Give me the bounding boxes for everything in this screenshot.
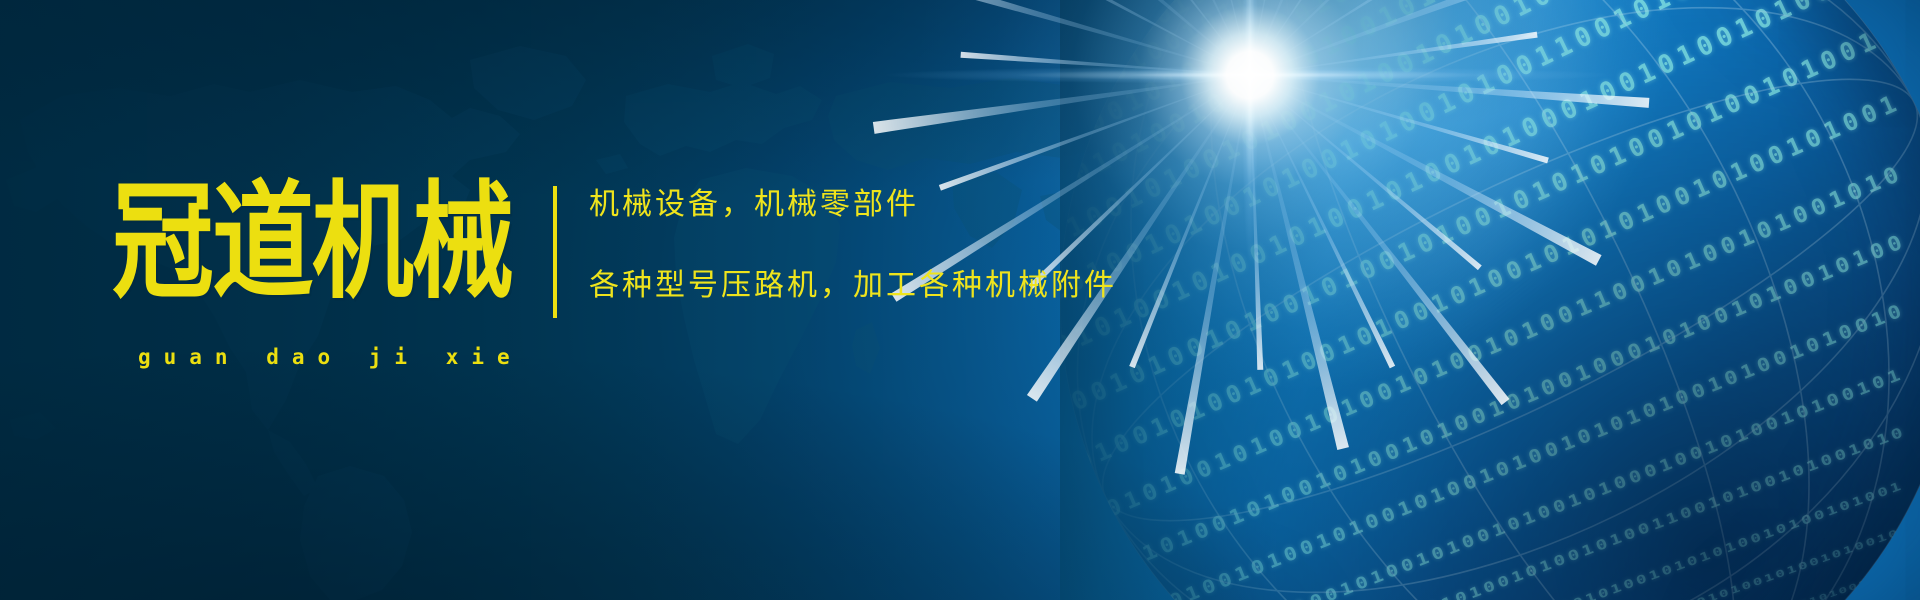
vertical-divider xyxy=(553,186,557,318)
banner-content: 冠道机械 guan dao ji xie 机械设备，机械零部件 各种型号压路机，… xyxy=(0,0,1920,600)
tagline-secondary: 各种型号压路机，加工各种机械附件 xyxy=(589,271,1117,301)
tagline-primary: 机械设备，机械零部件 xyxy=(589,190,1117,220)
hero-banner: 1001010010100101001010010100110010100101… xyxy=(0,0,1920,600)
company-name-cn: 冠道机械 xyxy=(112,175,533,309)
tagline-group: 机械设备，机械零部件 各种型号压路机，加工各种机械附件 xyxy=(589,190,1117,301)
company-name-pinyin: guan dao ji xie xyxy=(112,345,542,369)
logo-block[interactable]: 冠道机械 guan dao ji xie xyxy=(112,175,542,369)
